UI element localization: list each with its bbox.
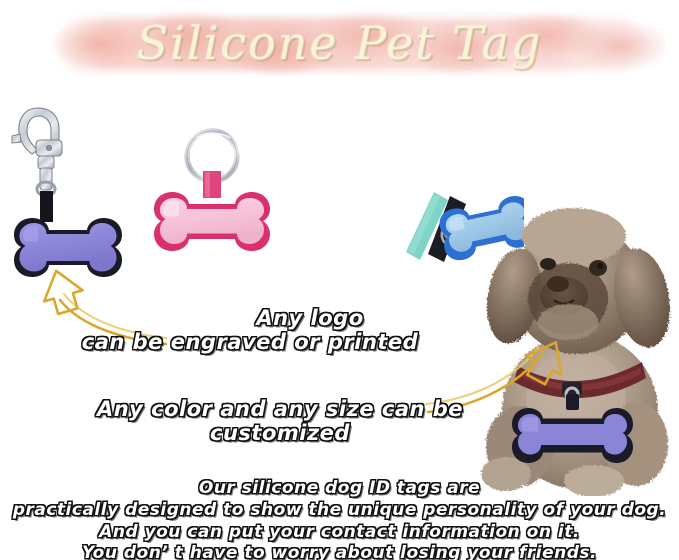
promo-footer-text: Our silicone dog ID tags are practically… bbox=[0, 478, 679, 560]
dog-tag-strap bbox=[566, 394, 579, 410]
promo-logo-line1: Any logo bbox=[0, 306, 500, 330]
promo-color-line1: Any color and any size can be bbox=[0, 397, 560, 421]
product-purple-tag bbox=[8, 96, 128, 281]
promo-logo-line2: can be engraved or printed bbox=[0, 330, 500, 354]
promo-color-text: Any color and any size can be customized bbox=[0, 397, 560, 446]
purple-tag-graphic bbox=[8, 96, 128, 281]
promo-footer-line4: You don’ t have to worry about losing yo… bbox=[0, 543, 679, 560]
clasp-thumb-lever bbox=[12, 134, 21, 143]
dog-illustration bbox=[476, 196, 679, 496]
bone-tag-pink bbox=[154, 192, 270, 251]
promo-logo-text: Any logo can be engraved or printed bbox=[0, 306, 500, 355]
promo-footer-line1: Our silicone dog ID tags are bbox=[0, 478, 679, 500]
dog-nose bbox=[547, 276, 569, 292]
dog-photo bbox=[476, 196, 679, 496]
swivel-shaft bbox=[40, 168, 52, 190]
promo-color-line2: customized bbox=[0, 421, 560, 445]
clasp-rivet bbox=[46, 145, 51, 150]
title-banner: Silicone Pet Tag bbox=[0, 0, 679, 95]
tag-strap bbox=[40, 191, 53, 222]
product-pink-tag bbox=[152, 124, 272, 279]
swivel-joint bbox=[38, 156, 54, 169]
pink-tag-graphic bbox=[152, 124, 272, 279]
promo-footer-line2: practically designed to show the unique … bbox=[0, 500, 679, 522]
promo-footer-line3: And you can put your contact information… bbox=[0, 522, 679, 544]
tab-highlight bbox=[205, 172, 210, 197]
bone-tag-purple bbox=[14, 218, 122, 277]
page-title: Silicone Pet Tag bbox=[0, 16, 679, 70]
dog-eye-left bbox=[540, 258, 556, 270]
product-image-canvas: Silicone Pet Tag bbox=[0, 0, 679, 560]
